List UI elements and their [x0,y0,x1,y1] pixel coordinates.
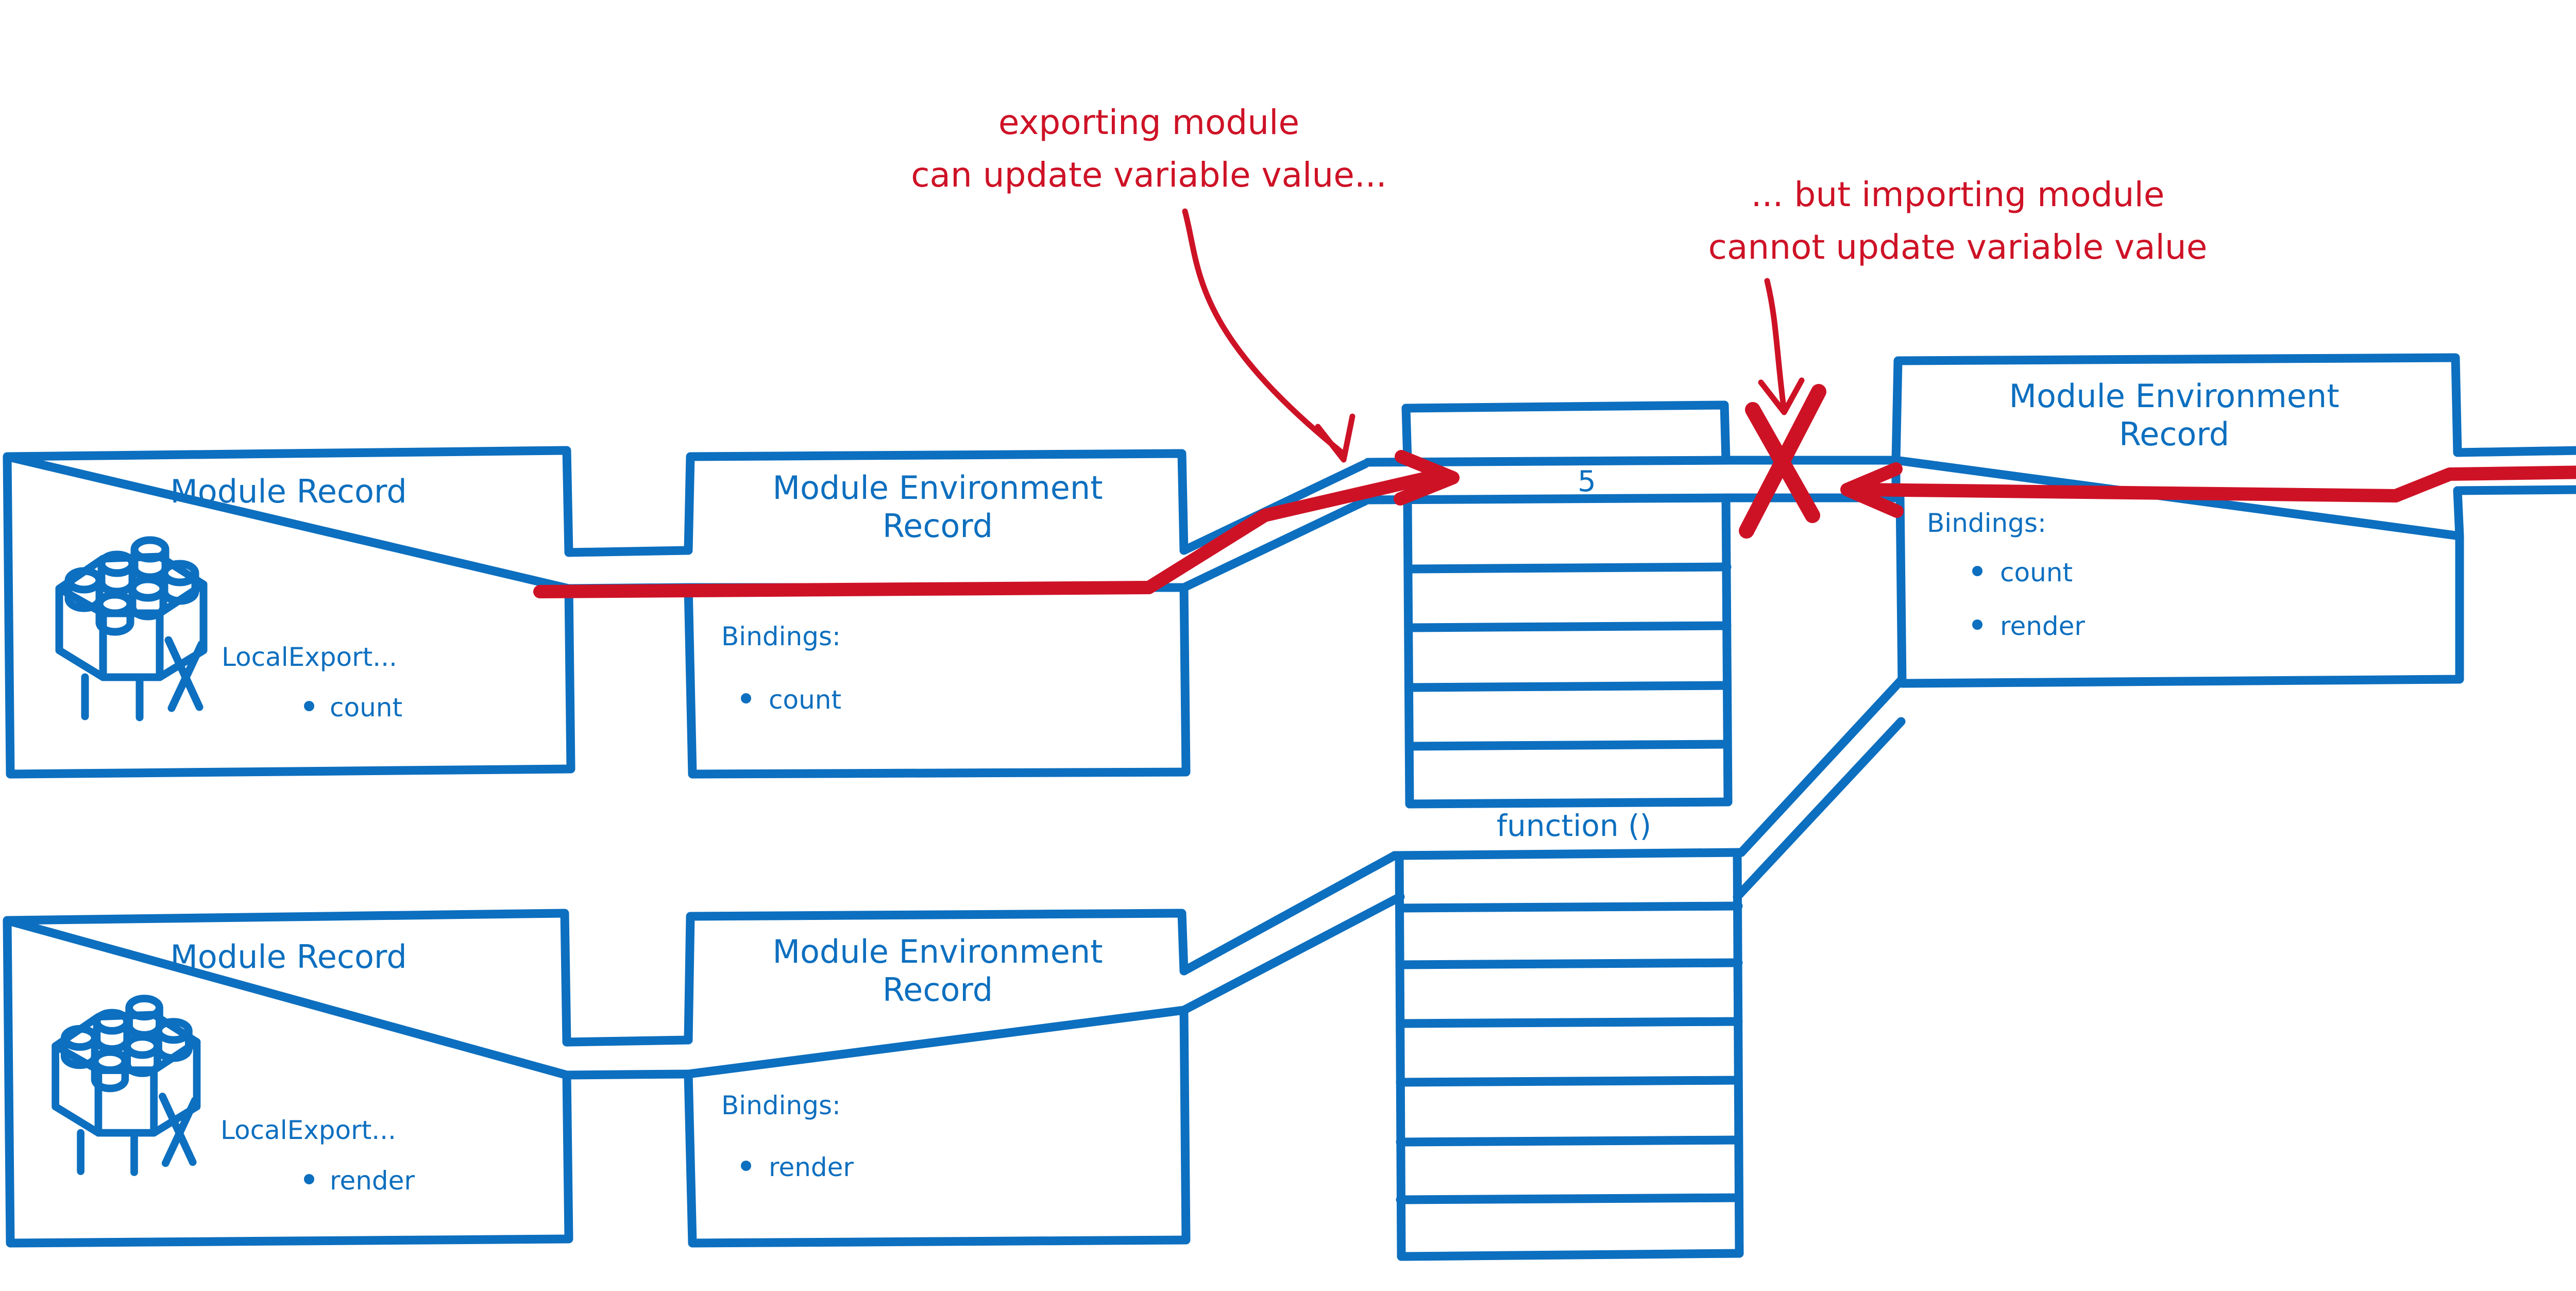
module-env-record-top-left-title-line2: Record [883,507,993,545]
pointer-rail-right-d [1737,722,1901,897]
pointer-rail-right-c [1741,680,1901,852]
module-record-bottom-left-title: Module Record [170,938,406,976]
module-record-bottom-left-field: LocalExport... [221,1115,396,1145]
diagram-canvas: Module Record [0,0,2576,1291]
module-env-record-right-item-0: count [1972,558,2073,588]
module-env-record-top-left-item-0: count [741,685,841,715]
module-record-top-left-item-0: count [304,693,402,723]
svg-text:render: render [2000,611,2085,641]
module-env-record-bottom-left-item-0: render [741,1152,854,1182]
module-record-top-left-field: LocalExport... [222,642,397,672]
svg-text:count: count [330,693,402,723]
module-env-record-right-section: Bindings: [1927,508,2046,538]
module-env-record-right-title-line2: Record [2119,415,2229,453]
module-env-record-top-left-section: Bindings: [721,622,841,651]
connector-stub-a [569,550,688,552]
lego-brick-icon [59,540,204,717]
right-note-pointer-arrow [1761,281,1802,412]
svg-text:render: render [330,1166,415,1196]
connector-stub-d [567,1074,688,1075]
module-env-record-bottom-left-section: Bindings: [721,1091,841,1120]
left-note-line2: can update variable value... [911,155,1387,195]
svg-text:render: render [769,1152,854,1182]
module-env-record-top-left-title-line1: Module Environment [772,469,1103,507]
connector-stub-c [567,1040,688,1042]
module-env-record-bottom-left-title-line1: Module Environment [772,933,1103,970]
connector-stub-e [2458,450,2576,452]
connector-stub-f [2458,490,2576,491]
module-env-record-right-item-1: render [1972,611,2085,641]
module-env-record-right-title-line1: Module Environment [2009,377,2339,415]
svg-text:count: count [2000,558,2073,588]
left-note-line1: exporting module [998,103,1299,142]
left-note-pointer-arrow [1185,211,1352,460]
memory-function-cell-label: function () [1497,808,1652,843]
module-record-top-left-title: Module Record [170,473,406,510]
right-note-line2: cannot update variable value [1708,227,2208,267]
module-record-bottom-left-item-0: render [304,1166,415,1196]
lego-brick-icon [56,998,197,1172]
right-note-line1: ... but importing module [1751,175,2165,214]
module-env-record-bottom-left-title-line2: Record [883,971,993,1009]
memory-value-cell-label: 5 [1578,465,1596,498]
svg-text:count: count [769,685,841,715]
diagram-svg: Module Record [0,0,2576,1291]
